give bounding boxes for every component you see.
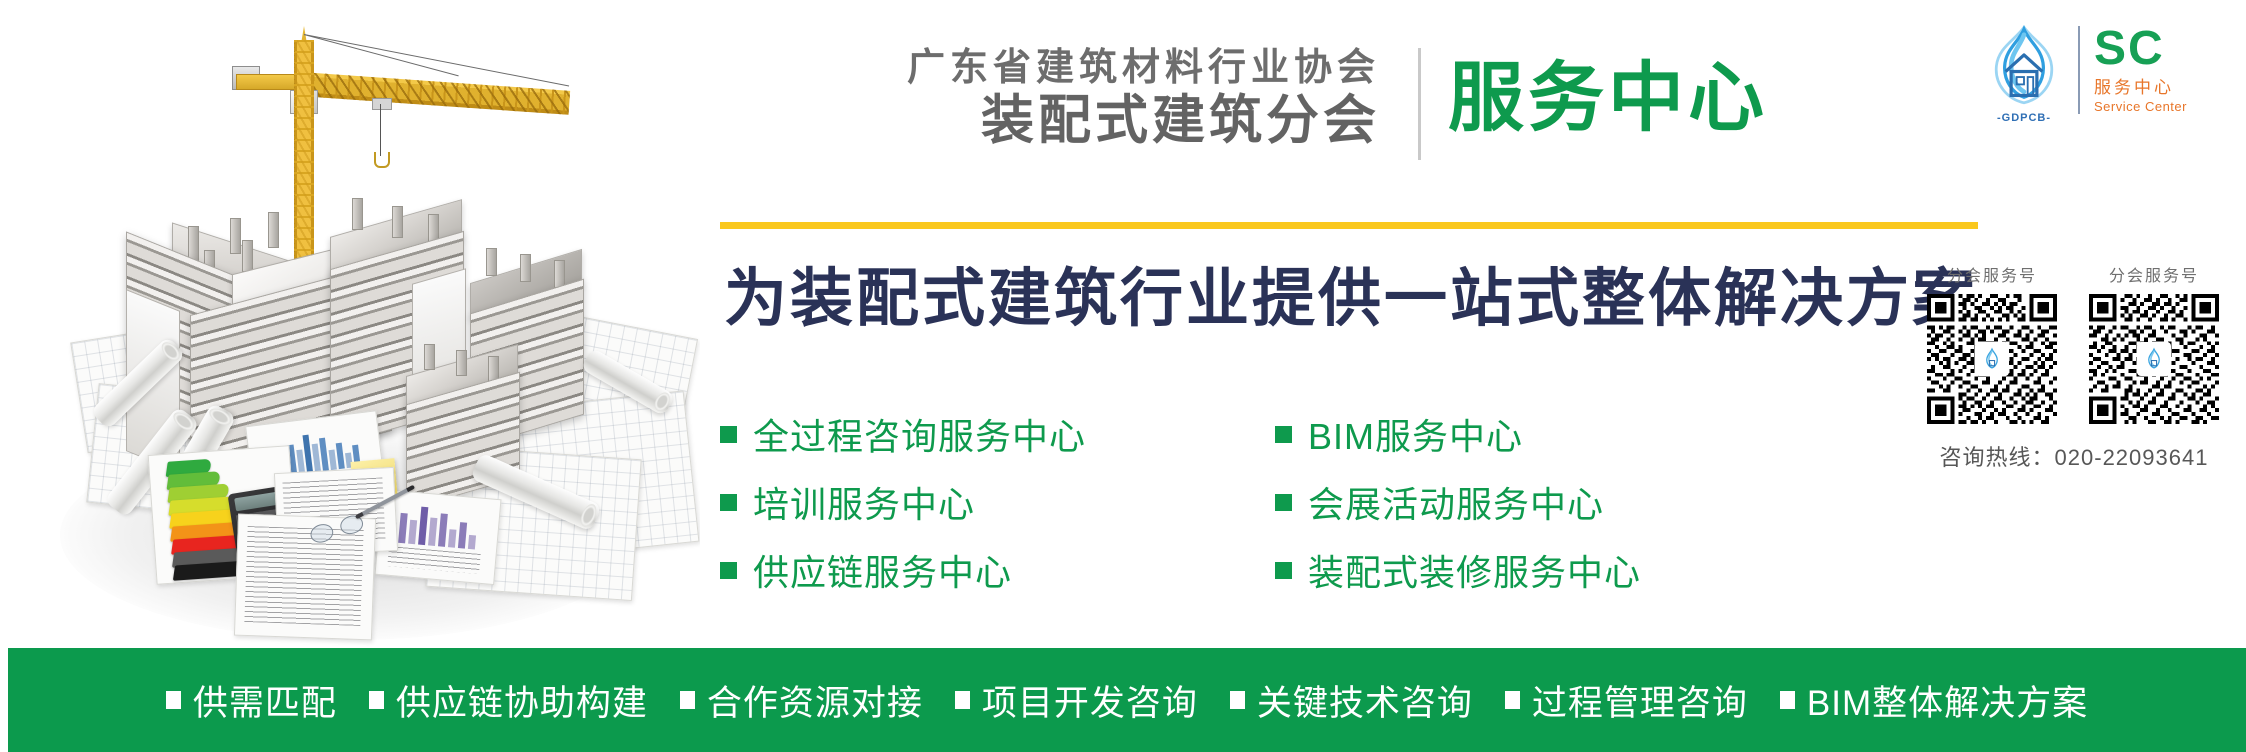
- service-item[interactable]: 全过程咨询服务中心: [720, 400, 1185, 468]
- footer-service-bar: 供需匹配 供应链协助构建 合作资源对接 项目开发咨询 关键技术咨询 过程管理咨询: [8, 648, 2246, 752]
- qr-row: 分会服务号: [1924, 262, 2224, 424]
- service-label: 供应链服务中心: [753, 544, 1012, 596]
- service-label: 会展活动服务中心: [1308, 476, 1604, 528]
- qr-center-logo-icon: [2137, 342, 2171, 376]
- qr-caption: 分会服务号: [2086, 262, 2222, 286]
- footer-item[interactable]: 过程管理咨询: [1505, 675, 1748, 726]
- footer-label: 项目开发咨询: [982, 675, 1198, 726]
- logo-en-text: Service Center: [2094, 99, 2228, 115]
- association-name-line2: 装配式建筑分会: [820, 91, 1380, 150]
- title-divider: [1418, 48, 1421, 160]
- service-label: BIM服务中心: [1308, 408, 1523, 460]
- bullet-square-icon: [1505, 691, 1520, 709]
- bullet-square-icon: [1275, 562, 1292, 579]
- gdpcb-sc-logo: -GDPCB- SC 服务中心 Service Center: [1978, 14, 2228, 126]
- footer-item[interactable]: 项目开发咨询: [955, 675, 1198, 726]
- footer-label: BIM整体解决方案: [1807, 675, 2088, 726]
- footer-items: 供需匹配 供应链协助构建 合作资源对接 项目开发咨询 关键技术咨询 过程管理咨询: [166, 675, 2088, 726]
- service-label: 全过程咨询服务中心: [753, 408, 1086, 460]
- qr-code-icon[interactable]: [1927, 294, 2057, 424]
- footer-label: 供需匹配: [193, 675, 337, 726]
- logo-cn-text: 服务中心: [2094, 77, 2228, 98]
- house-flame-icon: -GDPCB-: [1978, 20, 2070, 120]
- service-center-title: 服务中心: [1448, 48, 1768, 151]
- footer-label: 过程管理咨询: [1532, 675, 1748, 726]
- bullet-square-icon: [166, 691, 181, 709]
- qr-item[interactable]: 分会服务号: [2086, 262, 2222, 424]
- services-list: 全过程咨询服务中心 培训服务中心 供应链服务中心 BIM服务中心: [720, 400, 1740, 604]
- hotline-text: 咨询热线：020-22093641: [1924, 440, 2224, 472]
- footer-item[interactable]: 关键技术咨询: [1230, 675, 1473, 726]
- qr-contact-block: 分会服务号: [1924, 262, 2224, 472]
- service-item[interactable]: 装配式装修服务中心: [1275, 536, 1740, 604]
- services-column-left: 全过程咨询服务中心 培训服务中心 供应链服务中心: [720, 400, 1185, 604]
- bullet-square-icon: [1780, 691, 1795, 709]
- service-item[interactable]: 会展活动服务中心: [1275, 468, 1740, 536]
- service-label: 培训服务中心: [753, 476, 975, 528]
- association-title: 广东省建筑材料行业协会 装配式建筑分会: [820, 46, 1380, 150]
- bullet-square-icon: [955, 691, 970, 709]
- service-item[interactable]: BIM服务中心: [1275, 400, 1740, 468]
- logo-gdpcb-text: -GDPCB-: [1978, 112, 2070, 124]
- logo-text-block: SC 服务中心 Service Center: [2094, 25, 2228, 115]
- gold-divider-rule: [720, 222, 1978, 229]
- footer-label: 供应链协助构建: [396, 675, 648, 726]
- bullet-square-icon: [680, 691, 695, 709]
- bullet-square-icon: [720, 562, 737, 579]
- content-area: 广东省建筑材料行业协会 装配式建筑分会 服务中心 -GDPCB-: [700, 0, 2246, 648]
- logo-sc-text: SC: [2094, 25, 2228, 73]
- footer-label: 合作资源对接: [707, 675, 923, 726]
- bullet-square-icon: [1275, 426, 1292, 443]
- hero-construction-image: [0, 0, 700, 648]
- footer-item[interactable]: 供需匹配: [166, 675, 337, 726]
- qr-center-logo-icon: [1975, 342, 2009, 376]
- footer-label: 关键技术咨询: [1257, 675, 1473, 726]
- service-item[interactable]: 培训服务中心: [720, 468, 1185, 536]
- promo-banner: 广东省建筑材料行业协会 装配式建筑分会 服务中心 -GDPCB-: [0, 0, 2246, 752]
- footer-item[interactable]: 合作资源对接: [680, 675, 923, 726]
- bullet-square-icon: [720, 494, 737, 511]
- bar-chart-purple: [386, 496, 486, 550]
- main-headline: 为装配式建筑行业提供一站式整体解决方案: [724, 248, 1978, 339]
- qr-caption: 分会服务号: [1924, 262, 2060, 286]
- footer-item[interactable]: 供应链协助构建: [369, 675, 648, 726]
- qr-item[interactable]: 分会服务号: [1924, 262, 2060, 424]
- service-label: 装配式装修服务中心: [1308, 544, 1641, 596]
- services-column-right: BIM服务中心 会展活动服务中心 装配式装修服务中心: [1275, 400, 1740, 604]
- logo-divider: [2078, 26, 2080, 114]
- bullet-square-icon: [720, 426, 737, 443]
- service-item[interactable]: 供应链服务中心: [720, 536, 1185, 604]
- bullet-square-icon: [1275, 494, 1292, 511]
- qr-code-icon[interactable]: [2089, 294, 2219, 424]
- association-name-line1: 广东省建筑材料行业协会: [820, 46, 1380, 91]
- bullet-square-icon: [1230, 691, 1245, 709]
- bullet-square-icon: [369, 691, 384, 709]
- footer-item[interactable]: BIM整体解决方案: [1780, 675, 2088, 726]
